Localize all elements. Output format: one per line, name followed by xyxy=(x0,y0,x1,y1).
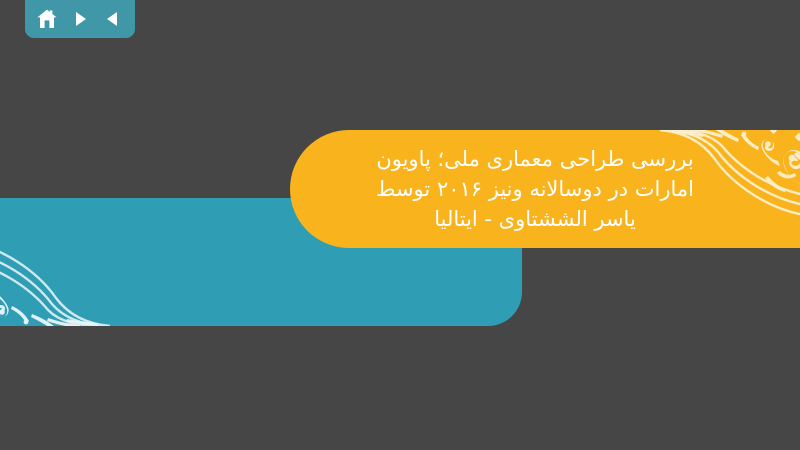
title-line-1: بررسی طراحی معماری ملی؛ پاویون xyxy=(376,144,693,174)
home-icon xyxy=(35,7,59,31)
back-triangle-icon xyxy=(103,9,123,29)
title-line-2: امارات در دوسالانه ونیز ۲۰۱۶ توسط xyxy=(376,174,694,204)
slide-canvas: بررسی طراحی معماری ملی؛ پاویون امارات در… xyxy=(0,0,800,450)
arabesque-corner-ornament xyxy=(0,198,150,326)
slide-title: بررسی طراحی معماری ملی؛ پاویون امارات در… xyxy=(300,132,770,246)
forward-button[interactable] xyxy=(67,6,93,32)
forward-triangle-icon xyxy=(70,9,90,29)
navigation-bar xyxy=(25,0,135,38)
back-button[interactable] xyxy=(100,6,126,32)
home-button[interactable] xyxy=(34,6,60,32)
title-line-3: یاسر الششتاوی - ایتالیا xyxy=(434,204,636,234)
